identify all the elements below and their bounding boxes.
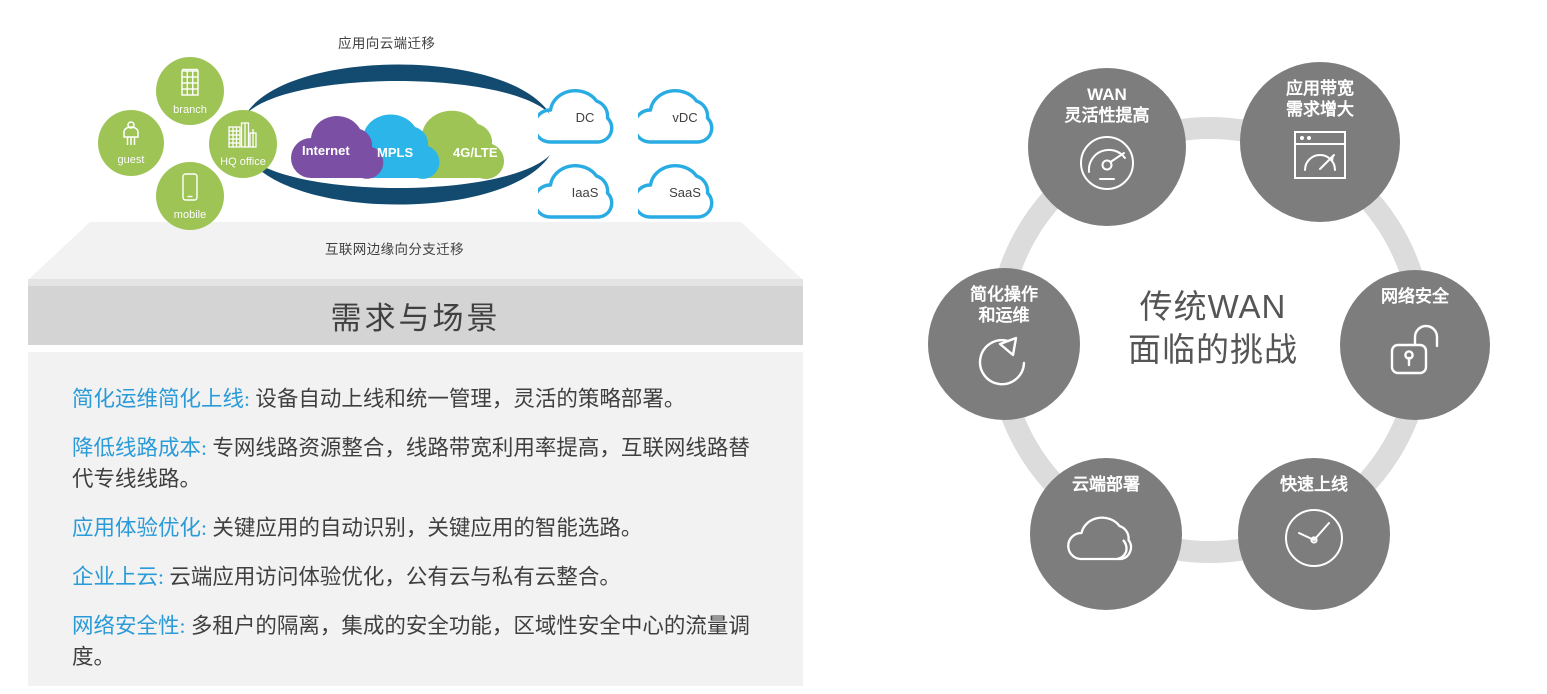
destination-cloud-dc[interactable]: DC (538, 80, 632, 148)
edge-node-label: branch (173, 104, 207, 116)
bullet-text: 关键应用的自动识别，关键应用的智能选路。 (207, 516, 642, 540)
bullet-list-panel: 简化运维简化上线: 设备自动上线和统一管理，灵活的策略部署。 降低线路成本: 专… (28, 352, 803, 686)
challenge-node-title: 云端部署 (1072, 474, 1140, 495)
destination-cloud-iaas[interactable]: IaaS (538, 155, 632, 223)
diagram-center-title: 传统WAN面临的挑战 (1078, 285, 1348, 371)
bullet-text: 设备自动上线和统一管理，灵活的策略部署。 (250, 387, 685, 411)
browser-speedometer-icon (1291, 126, 1349, 189)
section-heading-band: 需求与场景 (28, 286, 803, 345)
destination-cloud-label: DC (538, 110, 632, 125)
challenges-circle-diagram: WAN灵活性提高 应用带宽需求增大 (900, 40, 1520, 660)
transport-label-lte: 4G/LTE (453, 145, 498, 160)
city-skyline-icon (227, 121, 259, 154)
edge-node-guest[interactable]: guest (98, 110, 164, 176)
bullet-key: 应用体验优化: (72, 516, 207, 540)
destination-cloud-saas[interactable]: SaaS (638, 155, 732, 223)
edge-node-label: HQ office (220, 156, 266, 168)
edge-node-label: guest (118, 154, 145, 166)
transport-label-internet: Internet (302, 143, 350, 158)
arc-label-bottom: 互联网边缘向分支迁移 (325, 238, 464, 258)
list-item: 降低线路成本: 专网线路资源整合，线路带宽利用率提高，互联网线路替代专线线路。 (72, 433, 759, 495)
challenge-node-title: 简化操作和运维 (970, 284, 1038, 326)
left-diagram-panel: 应用向云端迁移 互联网边缘向分支迁移 guest (0, 0, 820, 694)
destination-cloud-vdc[interactable]: vDC (638, 80, 732, 148)
list-item: 企业上云: 云端应用访问体验优化，公有云与私有云整合。 (72, 562, 759, 593)
challenge-node-cloud-deployment[interactable]: 云端部署 (1030, 458, 1182, 610)
challenge-node-fast-deployment[interactable]: 快速上线 (1238, 458, 1390, 610)
page-title: 需求与场景 (331, 293, 501, 338)
bullet-key: 企业上云: (72, 565, 164, 589)
bullet-key: 简化运维简化上线: (72, 387, 250, 411)
edge-node-branch[interactable]: branch (156, 57, 224, 125)
person-icon (120, 121, 142, 152)
arc-label-top: 应用向云端迁移 (338, 32, 435, 52)
bullet-text: 云端应用访问体验优化，公有云与私有云整合。 (164, 565, 621, 589)
building-icon (178, 67, 202, 102)
challenge-node-title: 快速上线 (1280, 474, 1348, 495)
list-item: 网络安全性: 多租户的隔离，集成的安全功能，区域性安全中心的流量调度。 (72, 611, 759, 673)
bullet-key: 网络安全性: (72, 614, 185, 638)
challenge-node-simplify-operations[interactable]: 简化操作和运维 (928, 268, 1080, 420)
destination-cloud-label: IaaS (538, 185, 632, 200)
edge-node-label: mobile (174, 209, 206, 221)
challenge-node-title: 应用带宽需求增大 (1286, 78, 1354, 120)
destination-cloud-label: vDC (638, 110, 732, 125)
bullet-key: 降低线路成本: (72, 436, 207, 460)
edge-node-mobile[interactable]: mobile (156, 162, 224, 230)
open-padlock-icon (1387, 319, 1443, 384)
smartphone-icon (180, 172, 200, 207)
challenge-node-title: WAN灵活性提高 (1065, 84, 1150, 126)
cloud-icon (1067, 507, 1145, 570)
edge-node-hq-office[interactable]: HQ office (209, 110, 277, 178)
gauge-icon (1076, 132, 1138, 199)
clock-icon (1281, 505, 1347, 576)
list-item: 简化运维简化上线: 设备自动上线和统一管理，灵活的策略部署。 (72, 384, 759, 415)
transport-label-mpls: MPLS (377, 145, 413, 160)
challenge-node-network-security[interactable]: 网络安全 (1340, 270, 1490, 420)
challenge-node-title: 网络安全 (1381, 286, 1449, 307)
slide-canvas: 应用向云端迁移 互联网边缘向分支迁移 guest (0, 0, 1547, 694)
destination-cloud-label: SaaS (638, 185, 732, 200)
refresh-arrow-icon (973, 328, 1035, 395)
list-item: 应用体验优化: 关键应用的自动识别，关键应用的智能选路。 (72, 513, 759, 544)
challenge-node-wan-flexibility[interactable]: WAN灵活性提高 (1028, 68, 1186, 226)
challenge-node-bandwidth-demand[interactable]: 应用带宽需求增大 (1240, 62, 1400, 222)
